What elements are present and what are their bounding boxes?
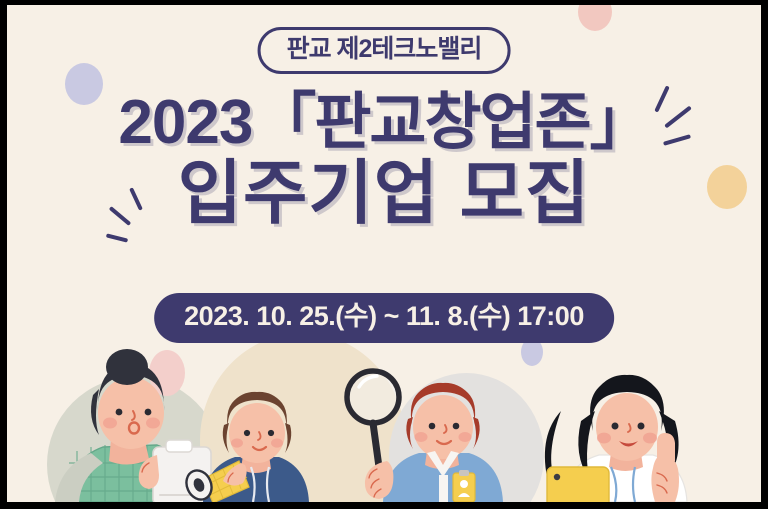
organization-badge: 판교 제2테크노밸리 xyxy=(258,27,511,74)
bracket-open: 「 xyxy=(254,88,314,157)
pink-dot-top-right xyxy=(578,5,612,31)
id-card-badge xyxy=(453,470,475,502)
yellow-clipboard xyxy=(547,467,609,502)
bracket-close: 」 xyxy=(590,88,650,157)
headline-block: 2023「판교창업존」 입주기업 모집 xyxy=(7,91,761,230)
magnifying-glass xyxy=(347,371,399,467)
orange-dot-right xyxy=(707,165,747,209)
sparkle-left-1 xyxy=(129,187,143,210)
headline-line-1: 2023「판교창업존」 xyxy=(7,91,761,154)
lavender-dot-top-left xyxy=(65,63,103,105)
sparkle-left-2 xyxy=(109,206,131,226)
headline-year: 2023 xyxy=(118,88,252,157)
characters-illustration xyxy=(7,327,761,502)
poster-stage: 판교 제2테크노밸리 2023「판교창업존」 입주기업 모집 2023. 10.… xyxy=(7,5,761,502)
headline-zone-name: 판교창업존 xyxy=(314,88,589,157)
promotional-poster: 판교 제2테크노밸리 2023「판교창업존」 입주기업 모집 2023. 10.… xyxy=(0,0,768,509)
sparkle-right-3 xyxy=(663,134,691,146)
sparkle-left-3 xyxy=(106,233,128,242)
sparkle-right-2 xyxy=(664,106,692,129)
sparkle-right-1 xyxy=(654,85,669,112)
character-woman-pointing-up xyxy=(545,375,687,502)
character-man-with-magnifier xyxy=(347,371,503,502)
